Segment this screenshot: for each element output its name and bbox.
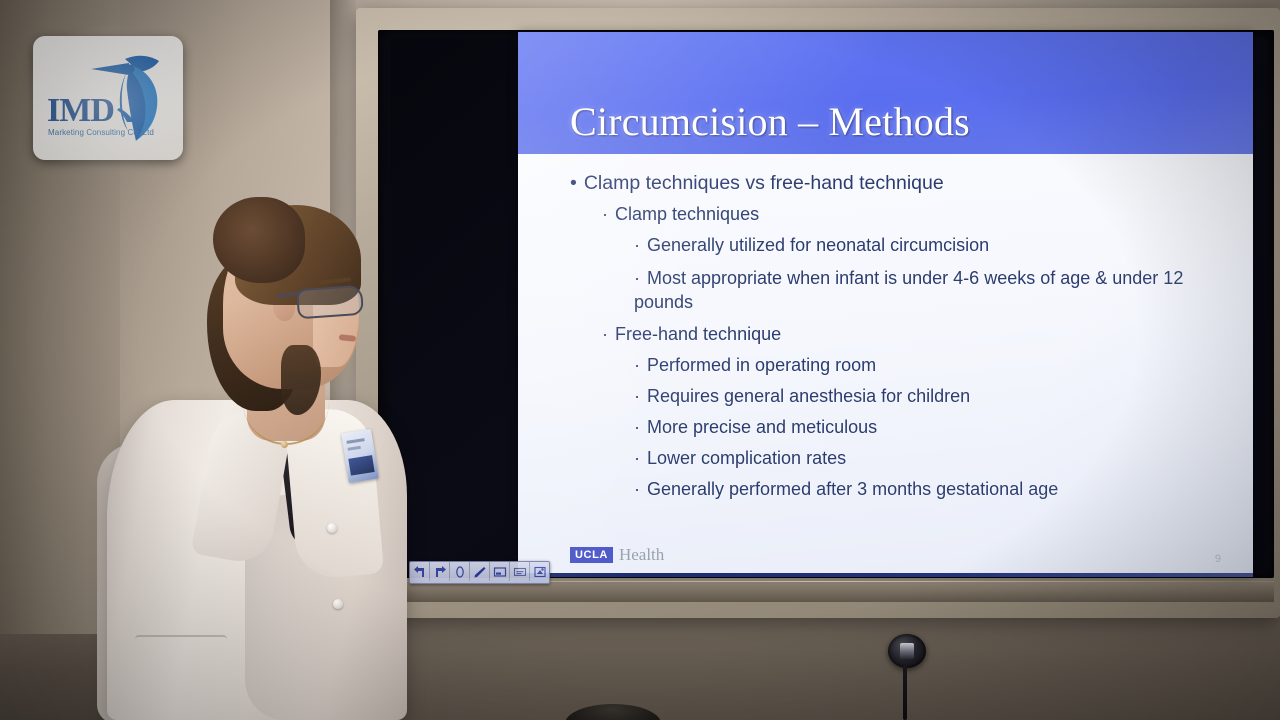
bullet-text: Clamp techniques <box>615 204 759 224</box>
glasses-icon <box>296 285 364 320</box>
menu-icon[interactable] <box>510 562 530 581</box>
bullet-marker: · <box>634 386 640 407</box>
coat-button <box>333 599 343 609</box>
camera-cable <box>903 664 907 720</box>
annotation-toolbar[interactable] <box>409 561 550 584</box>
slide-icon[interactable] <box>490 562 510 581</box>
bullet-level3: ·Lower complication rates <box>634 448 1237 469</box>
coat-button <box>327 523 337 533</box>
slide-number: 9 <box>1215 553 1221 565</box>
slide-bottom-rule <box>518 573 1253 577</box>
bullet-marker: • <box>570 172 577 195</box>
necklace-charm <box>281 441 288 448</box>
imd-logo-text: IMD <box>47 94 114 128</box>
bullet-text: Generally utilized for neonatal circumci… <box>647 235 989 255</box>
presentation-slide: Circumcision – Methods •Clamp techniques… <box>518 32 1253 577</box>
bullet-level3: ·Most appropriate when infant is under 4… <box>634 266 1194 315</box>
imd-logo-tagline: Marketing Consulting Co.,Ltd <box>48 128 154 137</box>
settings-icon[interactable] <box>530 562 549 581</box>
bullet-level2: ·Clamp techniques <box>602 204 1237 225</box>
bullet-text: Generally performed after 3 months gesta… <box>647 479 1058 499</box>
bullet-marker: · <box>634 235 640 256</box>
video-frame: Circumcision – Methods •Clamp techniques… <box>0 0 1280 720</box>
hair-bun <box>213 197 305 283</box>
bullet-text: Lower complication rates <box>647 448 846 468</box>
bullet-level3: ·Performed in operating room <box>634 355 1237 376</box>
bullet-level3: ·Generally utilized for neonatal circumc… <box>634 235 1237 256</box>
arrow-right-icon[interactable] <box>430 562 450 581</box>
desk-surface <box>356 608 1280 720</box>
badge-line <box>348 446 361 451</box>
bullet-marker: · <box>602 324 608 345</box>
bullet-level3: ·Generally performed after 3 months gest… <box>634 479 1237 500</box>
slide-body: •Clamp techniques vs free-hand technique… <box>518 158 1253 533</box>
ellipse-icon[interactable] <box>450 562 470 581</box>
ucla-health-logo: UCLA Health <box>570 545 664 565</box>
bullet-text: More precise and meticulous <box>647 417 877 437</box>
bullet-text: Requires general anesthesia for children <box>647 386 970 406</box>
bullet-text: Free-hand technique <box>615 324 781 344</box>
bullet-marker: · <box>634 355 640 376</box>
bullet-level3: ·Requires general anesthesia for childre… <box>634 386 1237 407</box>
bullet-level1: •Clamp techniques vs free-hand technique <box>570 172 1237 195</box>
monitor-bottom-bezel <box>378 582 1274 602</box>
slide-title-banner: Circumcision – Methods <box>518 32 1253 154</box>
badge-photo <box>348 455 374 476</box>
bullet-level2: ·Free-hand technique <box>602 324 1237 345</box>
camera-lens-icon <box>900 643 914 659</box>
ucla-mark: UCLA <box>570 547 613 563</box>
bullet-text: Clamp techniques vs free-hand technique <box>584 172 944 194</box>
badge-line <box>346 438 364 444</box>
bullet-marker: · <box>634 266 640 290</box>
bullet-marker: · <box>634 479 640 500</box>
bullet-marker: · <box>602 204 608 225</box>
pen-icon[interactable] <box>470 562 490 581</box>
slide-title: Circumcision – Methods <box>518 102 970 154</box>
webcam <box>888 634 926 668</box>
bullet-text: Performed in operating room <box>647 355 876 375</box>
bullet-marker: · <box>634 417 640 438</box>
bullet-text: Most appropriate when infant is under 4-… <box>634 268 1183 312</box>
imd-watermark-logo: IMD Marketing Consulting Co.,Ltd <box>33 36 183 160</box>
presenter <box>95 195 425 720</box>
bullet-level3: ·More precise and meticulous <box>634 417 1237 438</box>
slide-footer: UCLA Health 9 <box>518 533 1253 577</box>
bullet-marker: · <box>634 448 640 469</box>
ucla-health-word: Health <box>619 545 664 565</box>
coat-pocket <box>135 635 227 697</box>
